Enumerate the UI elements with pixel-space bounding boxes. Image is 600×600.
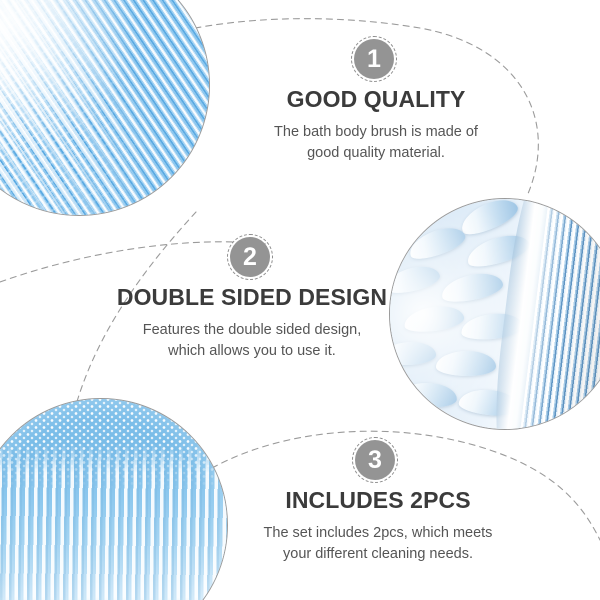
feature-description: The set includes 2pcs, which meets your … (230, 523, 526, 565)
feature-photo-2 (389, 198, 600, 430)
feature-photo-3 (0, 398, 228, 600)
feature-title: DOUBLE SIDED DESIGN (104, 284, 400, 311)
badge-disc: 1 (354, 39, 394, 79)
feature-description-line: Features the double sided design, (104, 320, 400, 341)
feature-title: INCLUDES 2PCS (230, 487, 526, 514)
photo-3-white-fade (0, 398, 228, 600)
feature-photo-1 (0, 0, 210, 216)
badge-number: 2 (243, 245, 257, 270)
feature-text-block-1: GOOD QUALITY The bath body brush is made… (228, 86, 524, 164)
feature-title: GOOD QUALITY (228, 86, 524, 113)
feature-badge-3: 3 (352, 437, 398, 483)
feature-description: Features the double sided design, which … (104, 320, 400, 362)
badge-number: 3 (368, 448, 382, 473)
badge-number: 1 (367, 47, 381, 72)
badge-disc: 3 (355, 440, 395, 480)
feature-description-line: your different cleaning needs. (230, 544, 526, 565)
badge-disc: 2 (230, 237, 270, 277)
feature-text-block-3: INCLUDES 2PCS The set includes 2pcs, whi… (230, 487, 526, 565)
feature-description: The bath body brush is made of good qual… (228, 122, 524, 164)
product-feature-infographic: 1 GOOD QUALITY The bath body brush is ma… (0, 0, 600, 600)
feature-description-line: The set includes 2pcs, which meets (230, 523, 526, 544)
photo-2-white-fade (389, 198, 600, 430)
feature-badge-2: 2 (227, 234, 273, 280)
feature-badge-1: 1 (351, 36, 397, 82)
photo-1-white-fade (0, 0, 210, 216)
feature-description-line: good quality material. (228, 143, 524, 164)
feature-description-line: The bath body brush is made of (228, 122, 524, 143)
feature-description-line: which allows you to use it. (104, 341, 400, 362)
feature-text-block-2: DOUBLE SIDED DESIGN Features the double … (104, 284, 400, 362)
